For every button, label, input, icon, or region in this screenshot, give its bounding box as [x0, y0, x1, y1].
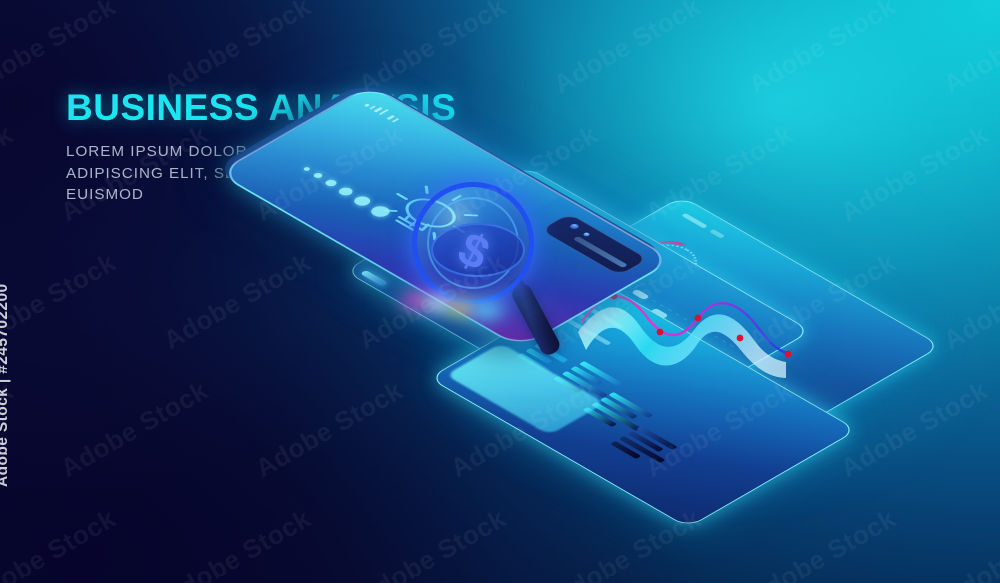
- banner-illustration: BUSINESS ANALYSIS LOREM IPSUM DOLOR SIT …: [0, 0, 1000, 583]
- isometric-scene: $: [330, 70, 990, 490]
- flare-glow-base: [370, 284, 570, 328]
- stock-id-watermark: Adobe Stock | #245702200: [0, 284, 12, 488]
